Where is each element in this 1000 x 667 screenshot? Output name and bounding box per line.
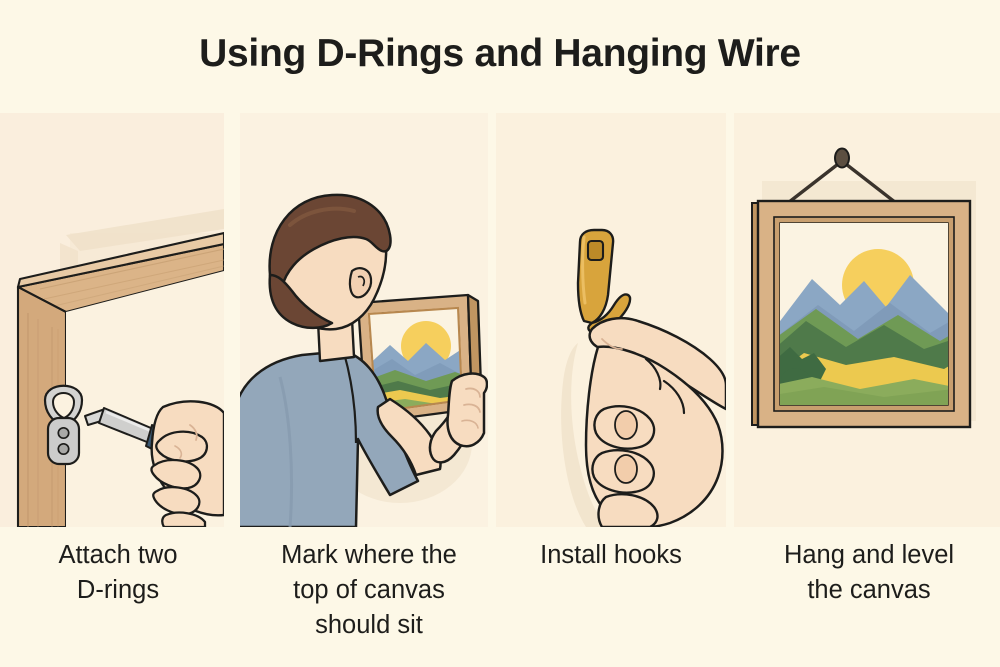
nail-head-icon [835, 149, 849, 168]
panel-hang-level-canvas [734, 113, 1000, 527]
framed-landscape-art [752, 201, 970, 427]
caption-line: should sit [248, 608, 490, 643]
caption-line: D-rings [6, 573, 230, 608]
panel-attach-d-rings [0, 113, 224, 527]
caption-line: Install hooks [496, 538, 726, 573]
caption-hang-level-canvas: Hang and level the canvas [740, 538, 998, 608]
caption-line: Hang and level [740, 538, 998, 573]
caption-attach-d-rings: Attach two D-rings [6, 538, 230, 608]
caption-line: Mark where the [248, 538, 490, 573]
caption-mark-canvas-top: Mark where the top of canvas should sit [248, 538, 490, 644]
panel-mark-canvas-top [240, 113, 488, 527]
panel-install-hooks [496, 113, 726, 527]
illustration-page: Using D-Rings and Hanging Wire [0, 0, 1000, 667]
caption-line: Attach two [6, 538, 230, 573]
page-title: Using D-Rings and Hanging Wire [0, 33, 1000, 76]
hand-holding-canvas [448, 374, 488, 447]
d-ring-icon [45, 386, 82, 464]
caption-install-hooks: Install hooks [496, 538, 726, 573]
canvas-artwork [774, 223, 954, 409]
caption-line: top of canvas [248, 573, 490, 608]
hand-holding-screwdriver [151, 401, 224, 527]
panel-row [0, 113, 1000, 527]
caption-row: Attach two D-rings Mark where the top of… [0, 538, 1000, 667]
caption-line: the canvas [740, 573, 998, 608]
